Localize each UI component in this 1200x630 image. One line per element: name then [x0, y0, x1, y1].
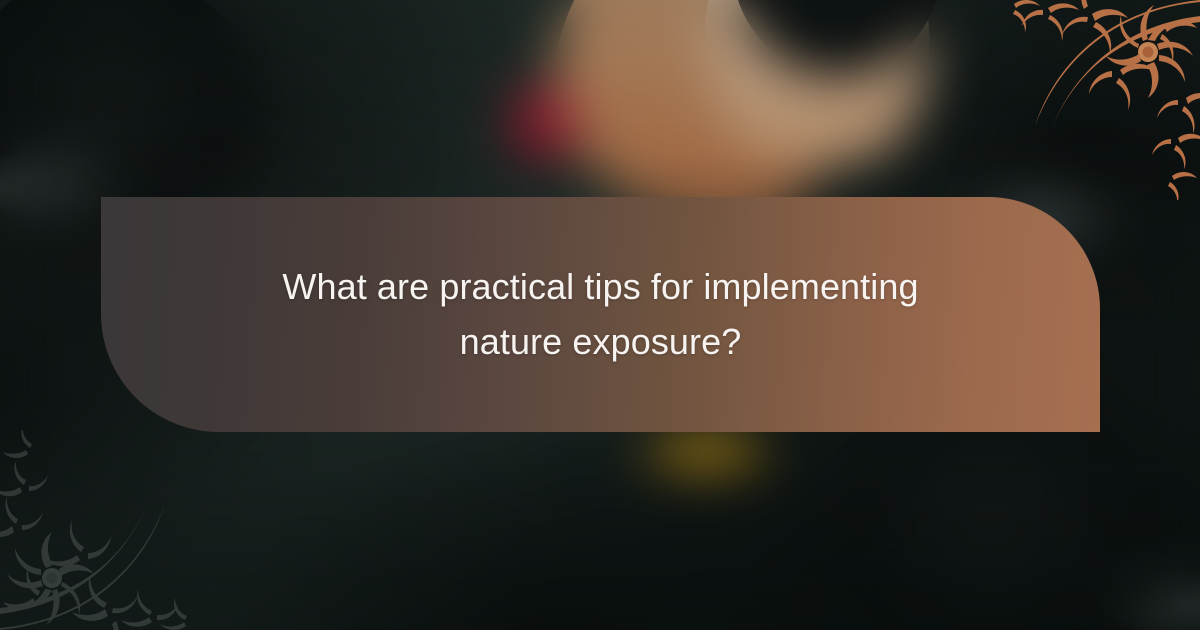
question-card: What are practical tips for implementing… — [101, 197, 1100, 432]
question-card-canvas: What are practical tips for implementing… — [0, 0, 1200, 630]
question-text: What are practical tips for implementing… — [241, 260, 961, 369]
question-card-body: What are practical tips for implementing… — [221, 260, 981, 369]
